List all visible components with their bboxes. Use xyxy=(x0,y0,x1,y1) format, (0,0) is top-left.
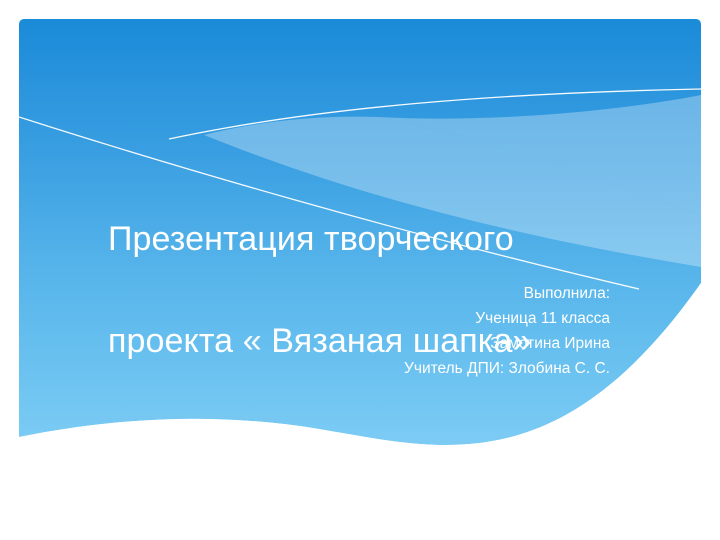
slide-canvas: Презентация творческого проекта « Вязана… xyxy=(0,0,720,540)
subtitle-line-author-label: Выполнила: xyxy=(148,281,610,306)
subtitle-line-student-name: Замотина Ирина xyxy=(148,331,610,356)
subtitle-line-class: Ученица 11 класса xyxy=(148,306,610,331)
slide-title-line-1: Презентация творческого xyxy=(108,214,628,265)
slide-subtitle[interactable]: Выполнила: Ученица 11 класса Замотина Ир… xyxy=(148,281,610,381)
subtitle-line-teacher: Учитель ДПИ: Злобина С. С. xyxy=(148,356,610,381)
flow-thin-curve-upper xyxy=(169,89,701,139)
title-slide[interactable]: Презентация творческого проекта « Вязана… xyxy=(19,19,701,521)
